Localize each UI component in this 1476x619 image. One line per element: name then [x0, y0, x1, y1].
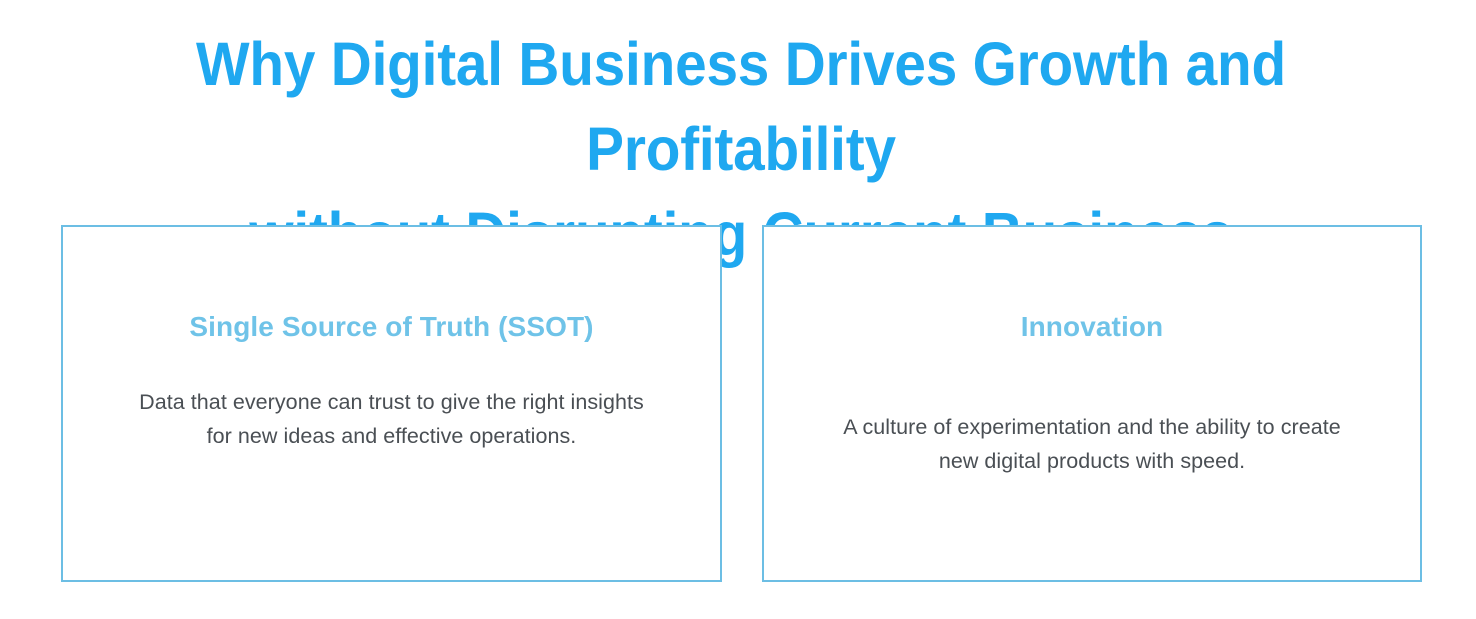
slide-canvas: Why Digital Business Drives Growth and P…	[0, 0, 1476, 619]
card-innovation: Innovation A culture of experimentation …	[762, 225, 1422, 582]
card-body-innovation: A culture of experimentation and the abi…	[824, 410, 1360, 478]
card-title-innovation: Innovation	[786, 310, 1398, 344]
card-row: Single Source of Truth (SSOT) Data that …	[61, 225, 1422, 582]
card-title-ssot: Single Source of Truth (SSOT)	[85, 310, 698, 344]
card-ssot: Single Source of Truth (SSOT) Data that …	[61, 225, 722, 582]
card-body-ssot: Data that everyone can trust to give the…	[133, 385, 650, 453]
